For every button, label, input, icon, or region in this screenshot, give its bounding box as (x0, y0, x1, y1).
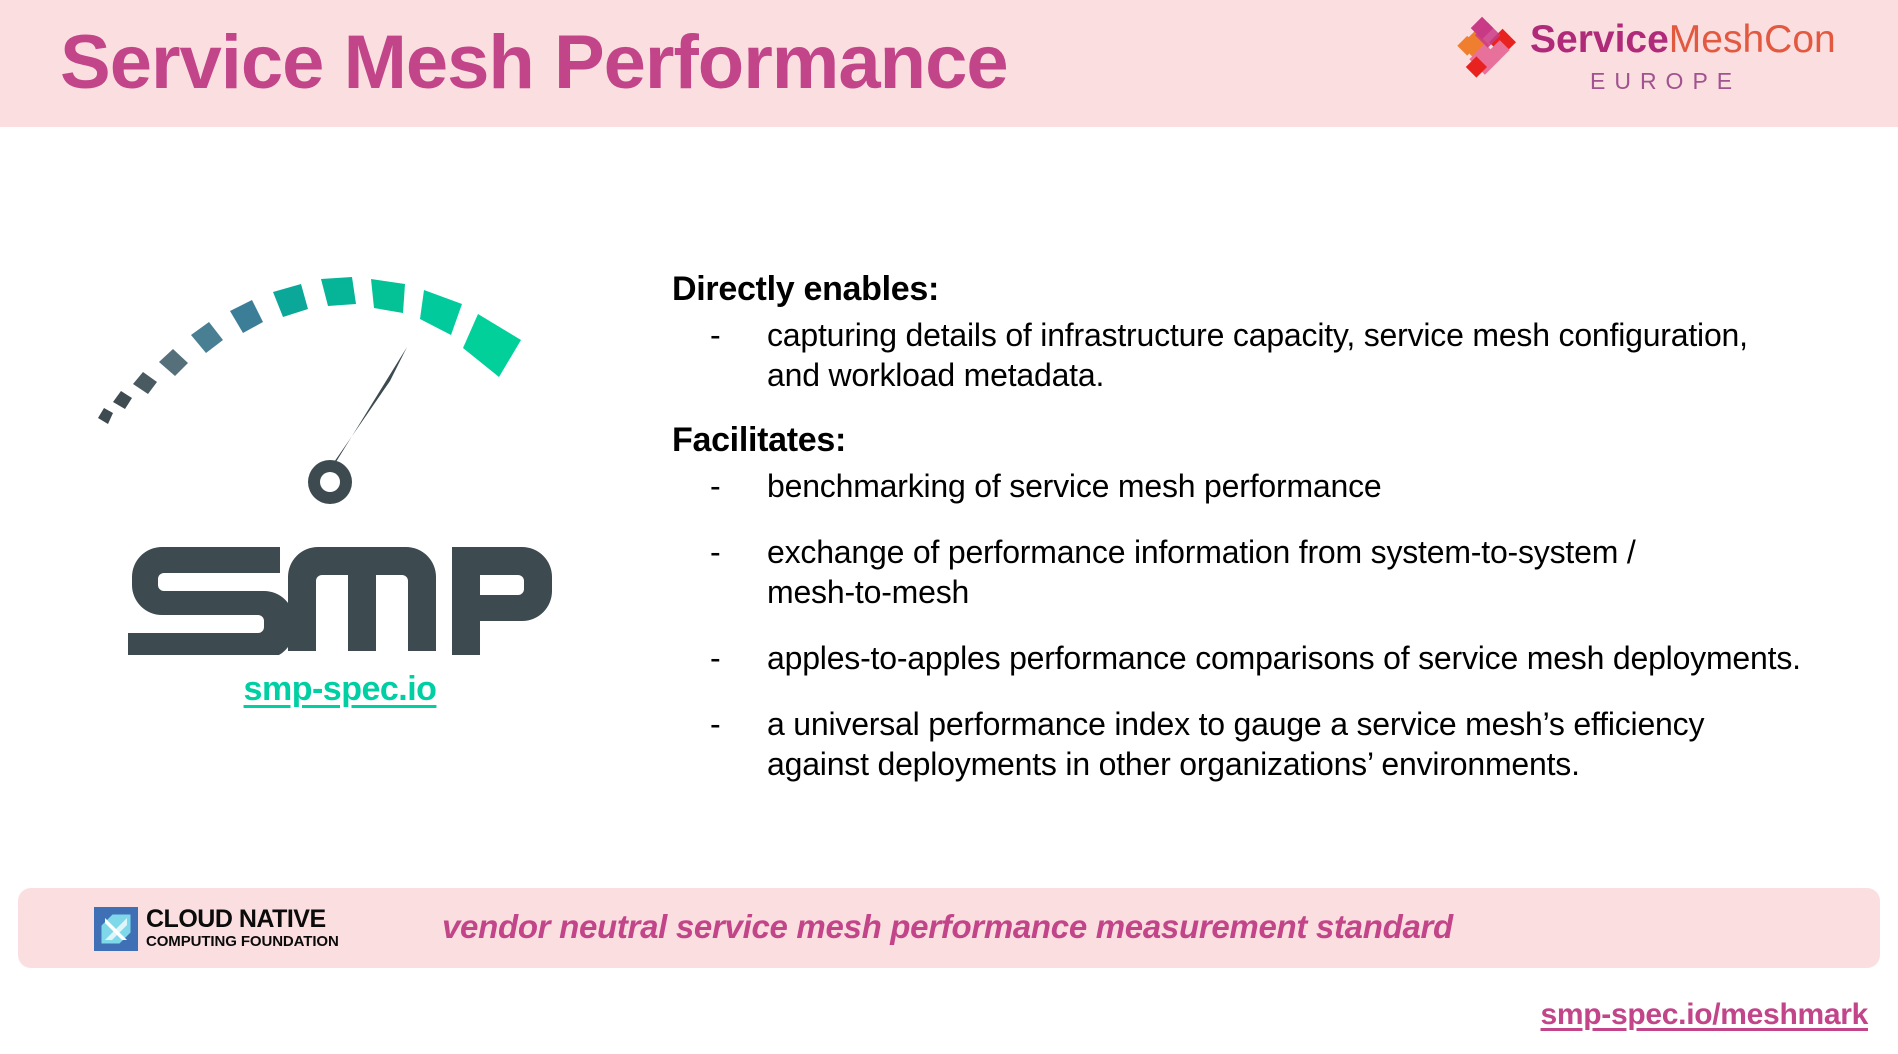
bullet-line: capturing details of infrastructure capa… (767, 315, 1872, 355)
page-title: Service Mesh Performance (60, 8, 1008, 118)
footer-tagline: vendor neutral service mesh performance … (442, 908, 1453, 946)
cncf-line-1: CLOUD NATIVE (146, 906, 339, 932)
footer-bar: CLOUD NATIVE COMPUTING FOUNDATION vendor… (18, 888, 1880, 968)
bullet-line: and workload metadata. (767, 355, 1872, 395)
section-facilitates: Facilitates: - benchmarking of service m… (672, 421, 1872, 784)
bullet-dash: - (710, 315, 721, 355)
section-heading: Facilitates: (672, 421, 1872, 460)
slide-root: Service Mesh Performance ServiceMeshCon … (0, 0, 1898, 1054)
section-heading: Directly enables: (672, 270, 1872, 309)
gauge-needle (308, 347, 407, 504)
bullet-line: apples-to-apples performance comparisons… (767, 638, 1872, 678)
servicemeshcon-logo: ServiceMeshCon EUROPE (1440, 6, 1860, 116)
bullet-dash: - (710, 532, 721, 572)
cncf-wordmark: CLOUD NATIVE COMPUTING FOUNDATION (146, 906, 339, 952)
smp-speedometer-gauge (80, 230, 600, 530)
servicemeshcon-diamond-icon (1456, 12, 1518, 88)
bullet-line: a universal performance index to gauge a… (767, 704, 1872, 744)
list-item: - a universal performance index to gauge… (672, 704, 1872, 784)
smc-word-meshcon: MeshCon (1669, 18, 1836, 61)
bullet-line: benchmarking of service mesh performance (767, 466, 1872, 506)
bullet-line: against deployments in other organizatio… (767, 744, 1872, 784)
bullet-dash: - (710, 466, 721, 506)
list-item: - apples-to-apples performance compariso… (672, 638, 1872, 678)
bullet-list: - capturing details of infrastructure ca… (672, 315, 1872, 395)
section-directly-enables: Directly enables: - capturing details of… (672, 270, 1872, 395)
cncf-helm-icon (94, 907, 138, 951)
list-item: - capturing details of infrastructure ca… (672, 315, 1872, 395)
servicemeshcon-wordmark: ServiceMeshCon (1530, 16, 1836, 64)
gauge-segments (98, 277, 521, 424)
servicemeshcon-subtitle: EUROPE (1590, 68, 1741, 95)
list-item: - exchange of performance information fr… (672, 532, 1872, 612)
bullet-list: - benchmarking of service mesh performan… (672, 466, 1872, 784)
content-column: Directly enables: - capturing details of… (672, 270, 1872, 802)
smp-logo-block: smp-spec.io (80, 230, 600, 660)
smp-spec-link[interactable]: smp-spec.io (80, 670, 600, 709)
list-item: - benchmarking of service mesh performan… (672, 466, 1872, 506)
bullet-line: exchange of performance information from… (767, 532, 1872, 572)
cncf-logo: CLOUD NATIVE COMPUTING FOUNDATION (94, 905, 354, 953)
smc-word-service: Service (1530, 18, 1669, 61)
meshmark-link[interactable]: smp-spec.io/meshmark (1541, 998, 1868, 1032)
cncf-line-2: COMPUTING FOUNDATION (146, 932, 339, 952)
bullet-dash: - (710, 704, 721, 744)
bullet-dash: - (710, 638, 721, 678)
bullet-line: mesh-to-mesh (767, 572, 1872, 612)
smp-wordmark (122, 535, 552, 655)
